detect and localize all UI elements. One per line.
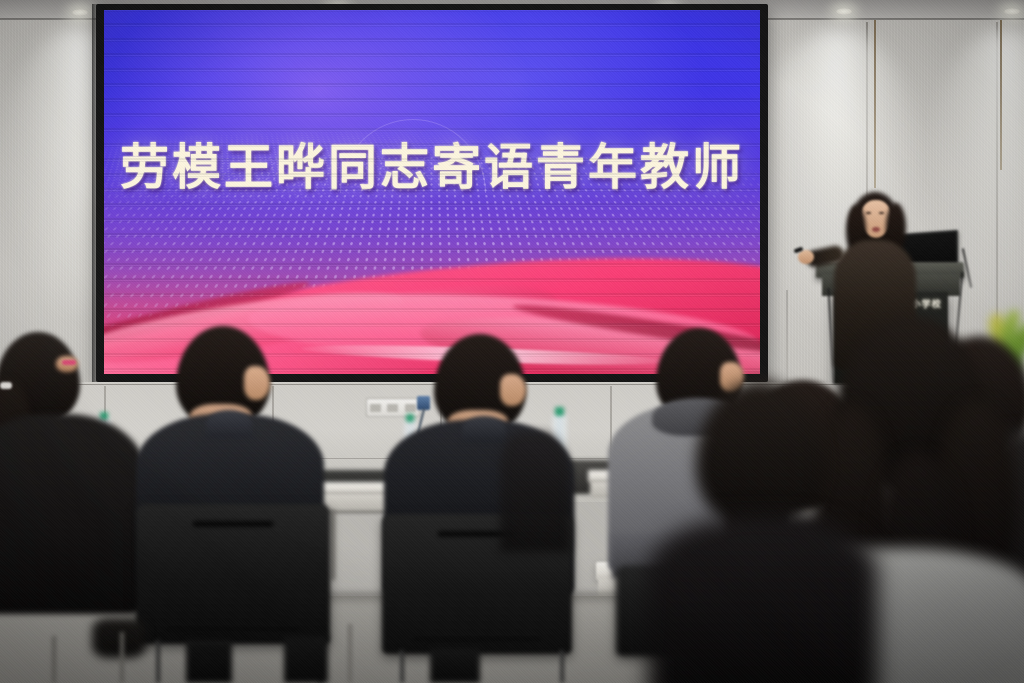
chair-vent-slot [165, 625, 301, 630]
hanging-cable [1000, 20, 1002, 170]
led-display-frame: 劳模王晔同志寄语青年教师 [96, 4, 768, 382]
chair-handle-slot [192, 520, 274, 527]
chair-leg [156, 640, 160, 683]
chair-leg [560, 650, 564, 683]
attendee-ear-cheek [500, 374, 526, 406]
bottle-cap [555, 407, 564, 416]
glasses-temple [62, 360, 76, 365]
suit-collar [206, 410, 252, 438]
attendee-shoulder-partial [500, 432, 570, 552]
speaker-hand [798, 250, 814, 264]
bottle-cap [406, 414, 414, 422]
chair-leg [348, 624, 352, 683]
led-display-screen[interactable]: 劳模王晔同志寄语青年教师 [104, 10, 760, 374]
chair-leg [120, 632, 124, 683]
attendee-legs [430, 648, 480, 683]
outlet-socket [405, 404, 416, 412]
speaker-mouth [872, 227, 880, 232]
speaker-eye-left [866, 212, 871, 214]
eyeglasses-lens [0, 382, 12, 389]
presentation-photo-scene: 劳模王晔同志寄语青年教师 苏州市平直实验小学校 [0, 0, 1024, 683]
attendee-shoe [92, 618, 146, 658]
chair[interactable] [136, 504, 330, 644]
attendee-body [648, 516, 878, 683]
presentation-title: 劳模王晔同志寄语青年教师 [104, 128, 760, 199]
attendee-body [0, 414, 146, 614]
speaker-eye-right [879, 212, 884, 214]
suit-collar [462, 416, 506, 442]
outlet-socket [387, 404, 398, 412]
hanging-cable [874, 20, 876, 188]
ceiling-downlight [836, 8, 852, 15]
ceiling-downlight [72, 9, 88, 16]
chair-leg [52, 636, 56, 683]
attendee-legs [186, 640, 232, 683]
chair-leg [400, 650, 404, 683]
outlet-socket [370, 404, 381, 412]
bottle-cap [100, 412, 108, 420]
attendee-ear-cheek [244, 366, 270, 400]
ceiling-downlight [1004, 8, 1020, 15]
desk-leg [330, 510, 335, 580]
chair-vent-slot [411, 635, 543, 640]
attendee-legs [284, 636, 328, 683]
